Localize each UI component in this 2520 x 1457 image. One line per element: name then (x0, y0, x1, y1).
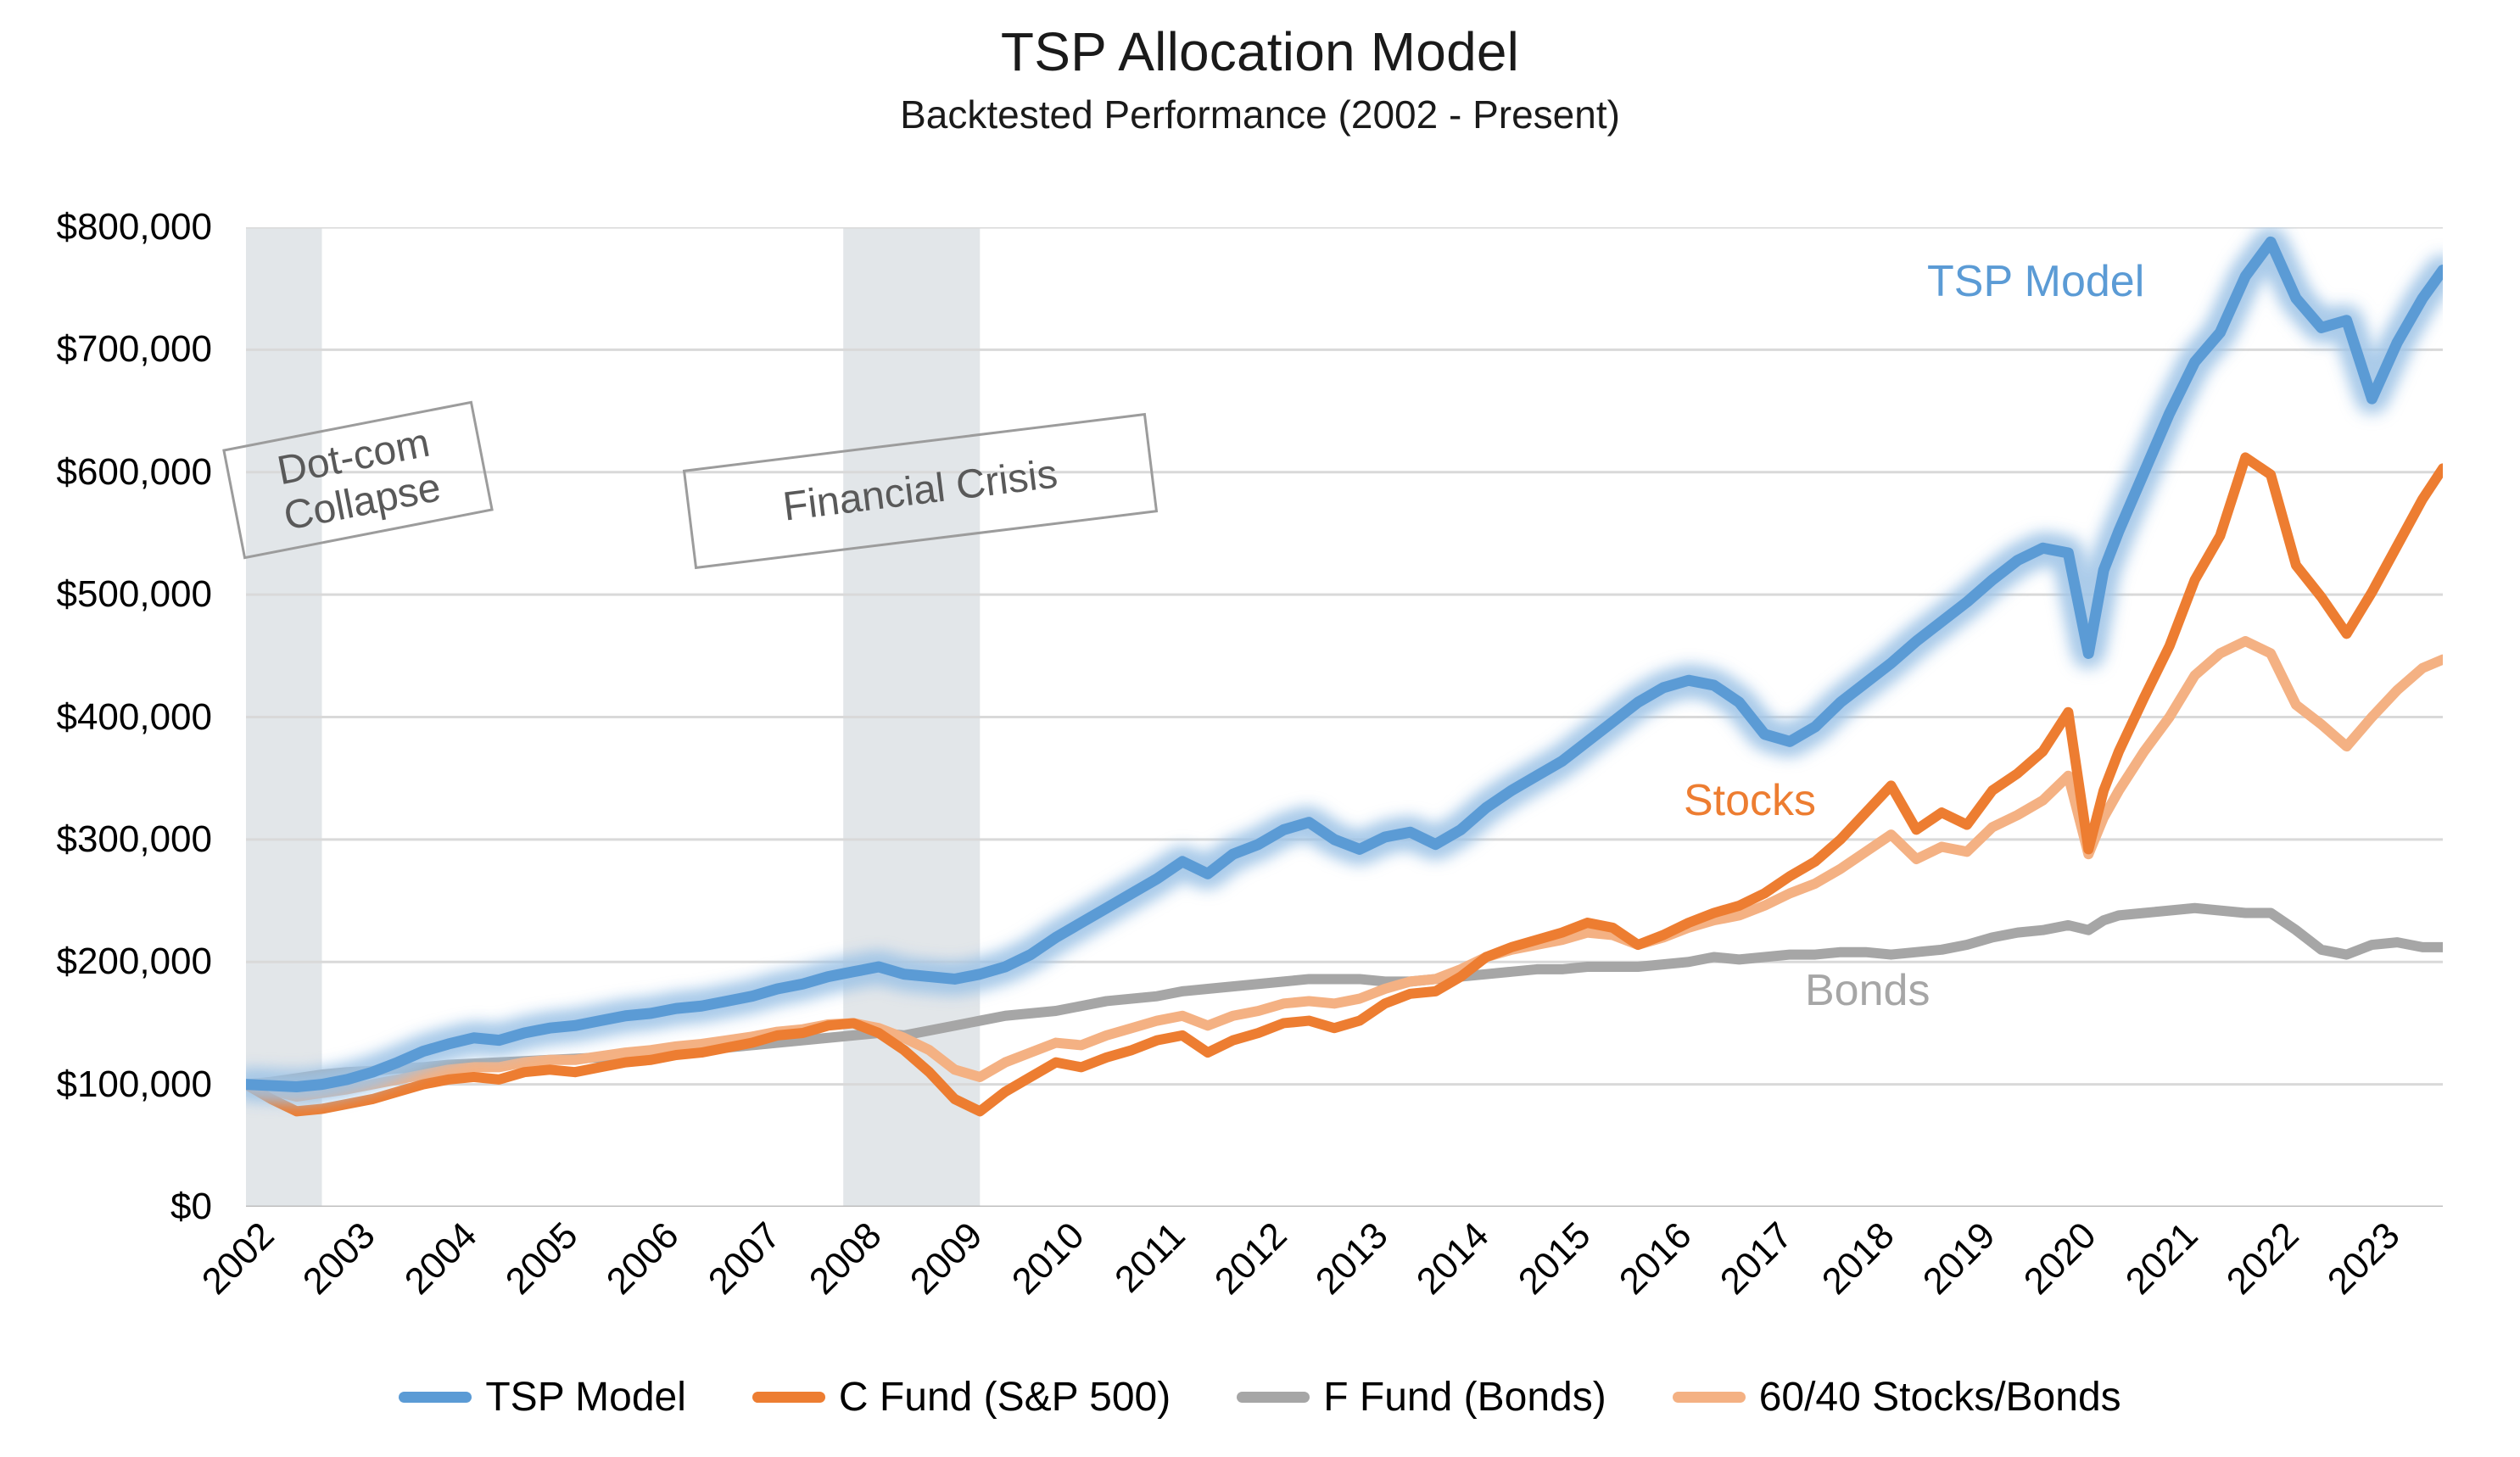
legend-swatch-icon (1673, 1392, 1746, 1403)
series-line-tsp-model (246, 242, 2443, 1086)
x-axis-tick-label: 2003 (270, 1214, 383, 1328)
y-axis-tick-label: $800,000 (56, 206, 212, 248)
chart-title: TSP Allocation Model (0, 24, 2520, 81)
series-lines (246, 242, 2443, 1111)
legend-label: C Fund (S&P 500) (839, 1374, 1171, 1421)
x-axis-tick-label: 2018 (1789, 1214, 1903, 1328)
y-axis: $0$100,000$200,000$300,000$400,000$500,0… (0, 227, 229, 1207)
legend-swatch-icon (1237, 1392, 1310, 1403)
x-axis-tick-label: 2005 (472, 1214, 586, 1328)
x-axis-tick-label: 2008 (776, 1214, 890, 1328)
x-axis-tick-label: 2013 (1282, 1214, 1396, 1328)
legend-swatch-icon (752, 1392, 825, 1403)
chart-subtitle: Backtested Performance (2002 - Present) (0, 94, 2520, 135)
y-axis-tick-label: $600,000 (56, 451, 212, 494)
legend-label: TSP Model (485, 1374, 686, 1421)
x-axis: 2002200320042005200620072008200920102011… (246, 1214, 2443, 1359)
y-axis-tick-label: $0 (170, 1186, 212, 1228)
chart-legend: TSP ModelC Fund (S&P 500)F Fund (Bonds)6… (0, 1374, 2520, 1421)
legend-item[interactable]: TSP Model (399, 1374, 686, 1421)
x-axis-tick-label: 2009 (877, 1214, 991, 1328)
series-glow-tsp-model (246, 242, 2443, 1086)
plot-area (246, 227, 2443, 1207)
y-axis-tick-label: $100,000 (56, 1063, 212, 1106)
x-axis-tick-label: 2015 (1485, 1214, 1599, 1328)
x-axis-tick-label: 2017 (1687, 1214, 1801, 1328)
legend-label: F Fund (Bonds) (1323, 1374, 1606, 1421)
x-axis-tick-label: 2010 (979, 1214, 1092, 1328)
legend-item[interactable]: 60/40 Stocks/Bonds (1673, 1374, 2121, 1421)
y-axis-tick-label: $200,000 (56, 941, 212, 983)
x-axis-tick-label: 2007 (675, 1214, 789, 1328)
x-axis-tick-label: 2016 (1586, 1214, 1700, 1328)
x-axis-tick-label: 2011 (1080, 1214, 1193, 1328)
x-axis-tick-label: 2019 (1890, 1214, 2003, 1328)
x-axis-tick-label: 2006 (573, 1214, 687, 1328)
plot-svg (246, 227, 2443, 1207)
legend-swatch-icon (399, 1392, 472, 1403)
legend-label: 60/40 Stocks/Bonds (1759, 1374, 2121, 1421)
x-axis-tick-label: 2021 (2093, 1214, 2206, 1328)
x-axis-tick-label: 2004 (372, 1214, 485, 1328)
y-axis-tick-label: $500,000 (56, 573, 212, 616)
y-axis-tick-label: $300,000 (56, 818, 212, 861)
legend-item[interactable]: F Fund (Bonds) (1237, 1374, 1606, 1421)
x-axis-tick-label: 2014 (1383, 1214, 1497, 1328)
legend-item[interactable]: C Fund (S&P 500) (752, 1374, 1171, 1421)
chart-root: TSP Allocation Model Backtested Performa… (0, 0, 2520, 1457)
y-axis-tick-label: $400,000 (56, 696, 212, 739)
title-block: TSP Allocation Model Backtested Performa… (0, 24, 2520, 135)
x-axis-tick-label: 2023 (2294, 1214, 2408, 1328)
y-axis-tick-label: $700,000 (56, 328, 212, 371)
x-axis-tick-label: 2022 (2193, 1214, 2307, 1328)
x-axis-tick-label: 2012 (1182, 1214, 1295, 1328)
x-axis-tick-label: 2020 (1991, 1214, 2104, 1328)
x-axis-tick-label: 2002 (169, 1214, 282, 1328)
